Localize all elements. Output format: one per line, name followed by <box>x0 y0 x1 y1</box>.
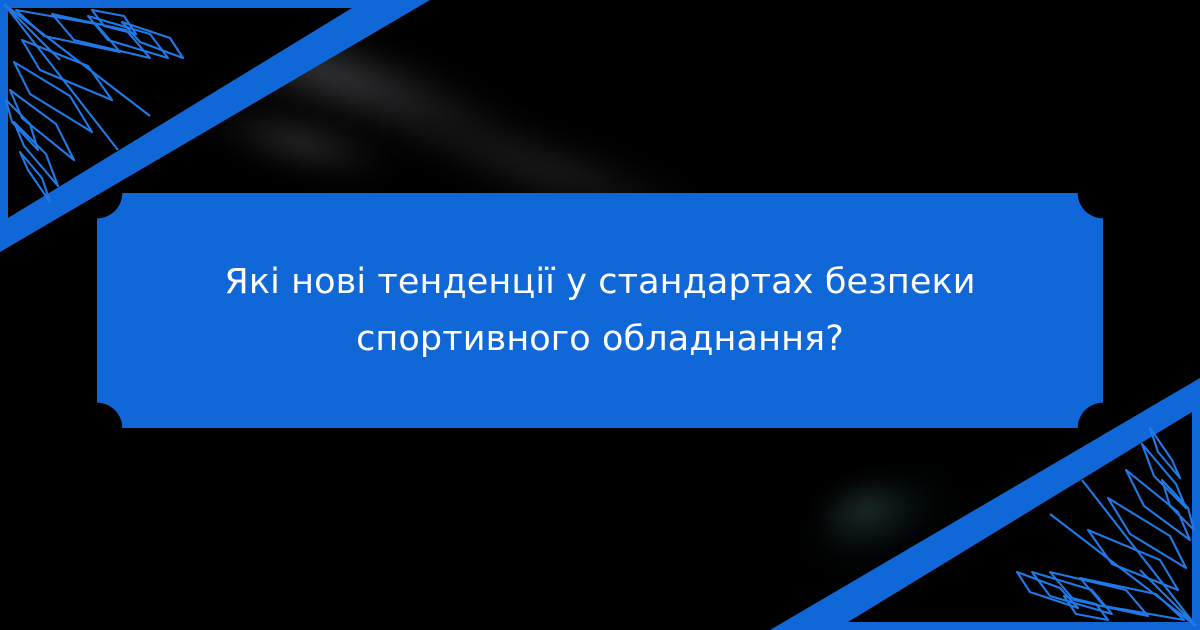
headline-text: Які нові тенденції у стандартах безпеки … <box>97 193 1103 428</box>
headline-banner: Які нові тенденції у стандартах безпеки … <box>97 193 1103 428</box>
poster-canvas: Які нові тенденції у стандартах безпеки … <box>0 0 1200 630</box>
